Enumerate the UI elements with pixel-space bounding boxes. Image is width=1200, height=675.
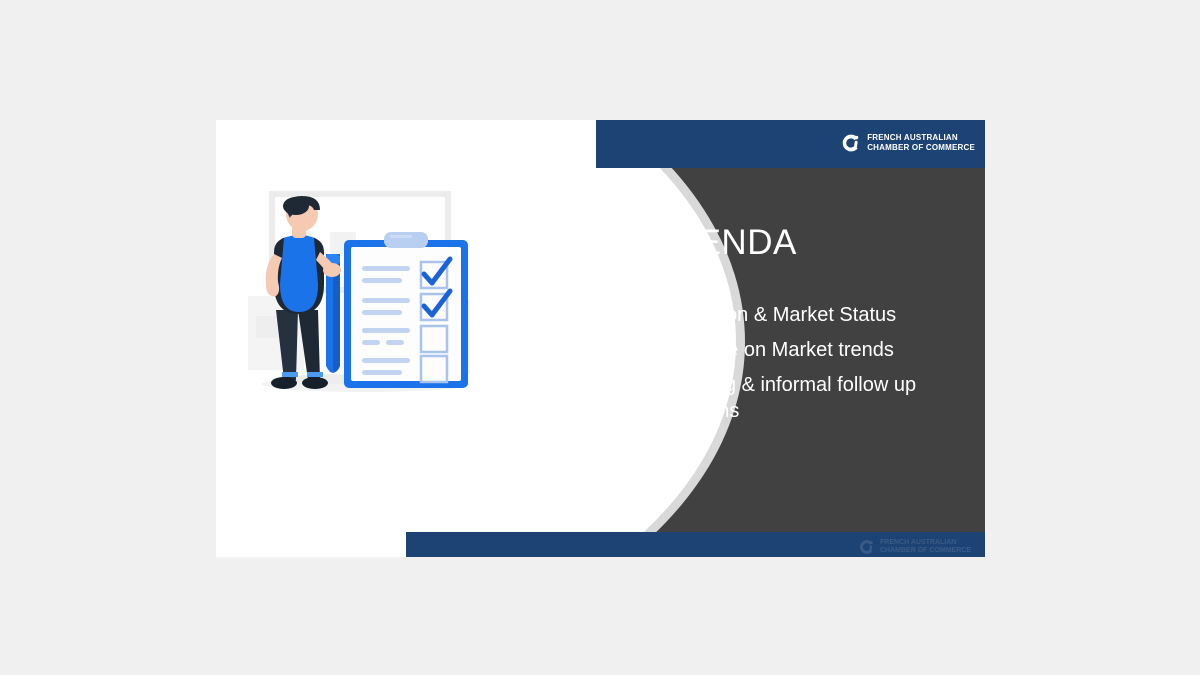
list-item: Networking & informal follow up discussi… [620,372,975,424]
footer-logo-line-1: FRENCH AUSTRALIAN [880,539,971,547]
facci-logo: FRENCH AUSTRALIAN CHAMBER OF COMMERCE [839,132,975,154]
slide-header-bar: FRENCH AUSTRALIAN CHAMBER OF COMMERCE [596,120,985,168]
facci-logo-text: FRENCH AUSTRALIAN CHAMBER OF COMMERCE [867,133,975,153]
logo-line-2: CHAMBER OF COMMERCE [867,143,975,153]
list-item: Presentation & Market Status [620,302,975,328]
facci-c-monogram-icon [857,538,875,556]
footer-logo-line-2: CHAMBER OF COMMERCE [880,547,971,555]
list-item: Roundtable on Market trends [620,337,975,363]
facci-logo-footer-text: FRENCH AUSTRALIAN CHAMBER OF COMMERCE [880,539,971,555]
logo-line-1: FRENCH AUSTRALIAN [867,133,975,143]
facci-c-monogram-icon [839,132,861,154]
presentation-slide: FRENCH AUSTRALIAN CHAMBER OF COMMERCE AG… [216,120,985,557]
checklist-illustration [234,188,494,438]
agenda-bullet-list: Presentation & Market Status Roundtable … [620,302,975,433]
page-title: AGENDA [646,223,797,263]
facci-logo-footer: FRENCH AUSTRALIAN CHAMBER OF COMMERCE [857,538,971,556]
